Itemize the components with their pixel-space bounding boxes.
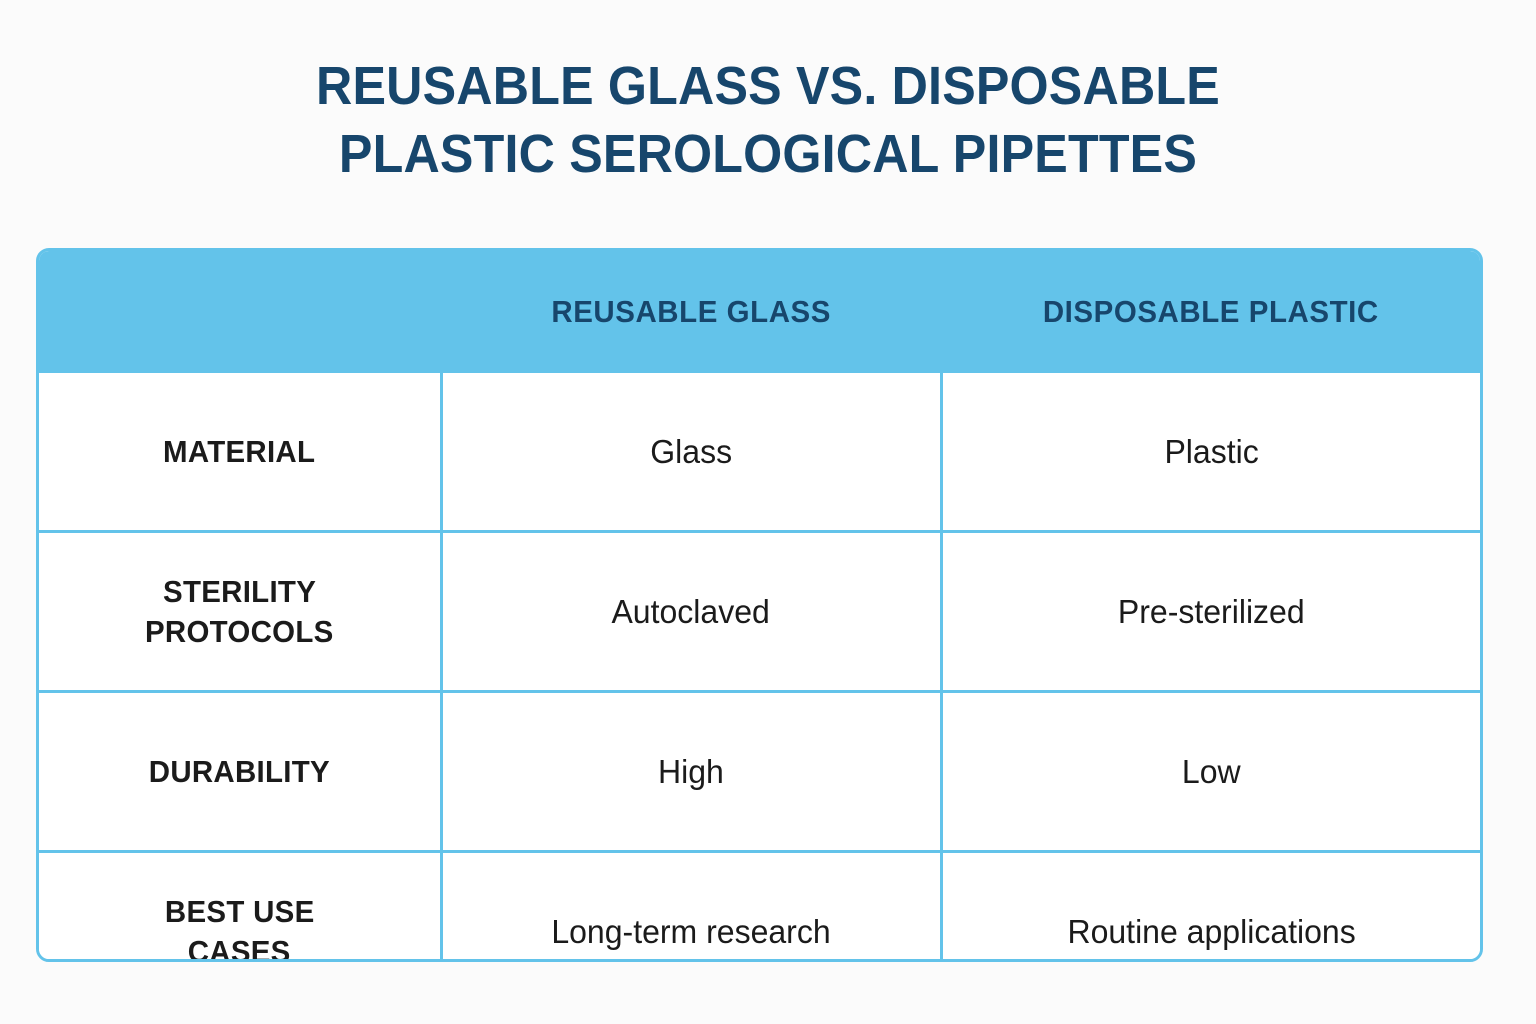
comparison-table: REUSABLE GLASS DISPOSABLE PLASTIC MATERI… bbox=[39, 251, 1480, 962]
cell-best-use-glass: Long-term research bbox=[441, 852, 941, 963]
cell-material-glass: Glass bbox=[441, 373, 941, 532]
table-header-row: REUSABLE GLASS DISPOSABLE PLASTIC bbox=[39, 251, 1480, 373]
cell-best-use-plastic: Routine applications bbox=[941, 852, 1480, 963]
cell-sterility-plastic: Pre-sterilized bbox=[941, 532, 1480, 692]
cell-durability-glass: High bbox=[441, 692, 941, 852]
comparison-infographic: REUSABLE GLASS VS. DISPOSABLE PLASTIC SE… bbox=[0, 0, 1536, 1024]
table-body: MATERIAL Glass Plastic STERILITY PROTOCO… bbox=[39, 373, 1480, 962]
cell-material-plastic: Plastic bbox=[941, 373, 1480, 532]
column-header-disposable-plastic: DISPOSABLE PLASTIC bbox=[941, 251, 1480, 373]
row-label-durability: DURABILITY bbox=[39, 692, 441, 852]
cell-sterility-glass: Autoclaved bbox=[441, 532, 941, 692]
row-label-sterility-protocols: STERILITY PROTOCOLS bbox=[39, 532, 441, 692]
row-label-best-use-cases: BEST USE CASES bbox=[39, 852, 441, 963]
column-header-attribute bbox=[39, 251, 441, 373]
column-header-reusable-glass: REUSABLE GLASS bbox=[441, 251, 941, 373]
table-row: DURABILITY High Low bbox=[39, 692, 1480, 852]
page-title: REUSABLE GLASS VS. DISPOSABLE PLASTIC SE… bbox=[0, 52, 1536, 188]
table-header: REUSABLE GLASS DISPOSABLE PLASTIC bbox=[39, 251, 1480, 373]
page-title-line-1: REUSABLE GLASS VS. DISPOSABLE bbox=[54, 52, 1482, 120]
cell-durability-plastic: Low bbox=[941, 692, 1480, 852]
table-row: MATERIAL Glass Plastic bbox=[39, 373, 1480, 532]
comparison-table-container: REUSABLE GLASS DISPOSABLE PLASTIC MATERI… bbox=[36, 248, 1483, 962]
page-title-line-2: PLASTIC SEROLOGICAL PIPETTES bbox=[54, 120, 1482, 188]
table-row: BEST USE CASES Long-term research Routin… bbox=[39, 852, 1480, 963]
row-label-material: MATERIAL bbox=[39, 373, 441, 532]
table-row: STERILITY PROTOCOLS Autoclaved Pre-steri… bbox=[39, 532, 1480, 692]
